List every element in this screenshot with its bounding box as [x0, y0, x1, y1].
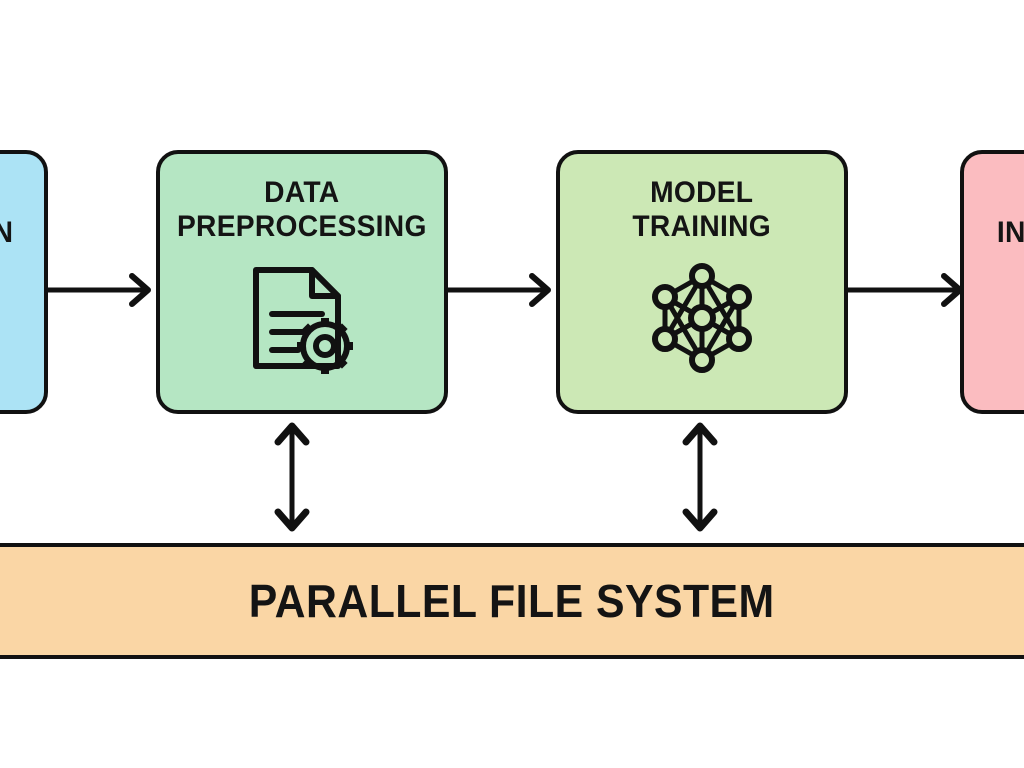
- storage-arrow-preprocessing: [272, 422, 312, 532]
- stage-box-preprocessing[interactable]: DATA PREPROCESSING: [156, 150, 448, 414]
- stage-box-inference[interactable]: IN: [960, 150, 1024, 414]
- document-gear-icon: [244, 260, 360, 376]
- diagram-canvas: N DATA PREPROCESSING: [0, 0, 1024, 768]
- storage-bar-parallel-file-system[interactable]: PARALLEL FILE SYSTEM: [0, 543, 1024, 659]
- neural-network-icon: [644, 260, 760, 376]
- storage-bar-label: PARALLEL FILE SYSTEM: [249, 574, 775, 628]
- storage-arrow-training: [680, 422, 720, 532]
- stage-box-training[interactable]: MODEL TRAINING: [556, 150, 848, 414]
- stage-label-preprocessing: DATA PREPROCESSING: [177, 176, 427, 244]
- stage-label-ingestion: N: [0, 216, 13, 250]
- stage-label-training: MODEL TRAINING: [633, 176, 772, 244]
- flow-arrow-training-to-inference: [848, 272, 960, 308]
- flow-arrow-ingestion-to-preprocessing: [48, 272, 160, 308]
- stage-box-ingestion[interactable]: N: [0, 150, 48, 414]
- flow-arrow-preprocessing-to-training: [448, 272, 560, 308]
- stage-label-inference: IN: [997, 216, 1024, 250]
